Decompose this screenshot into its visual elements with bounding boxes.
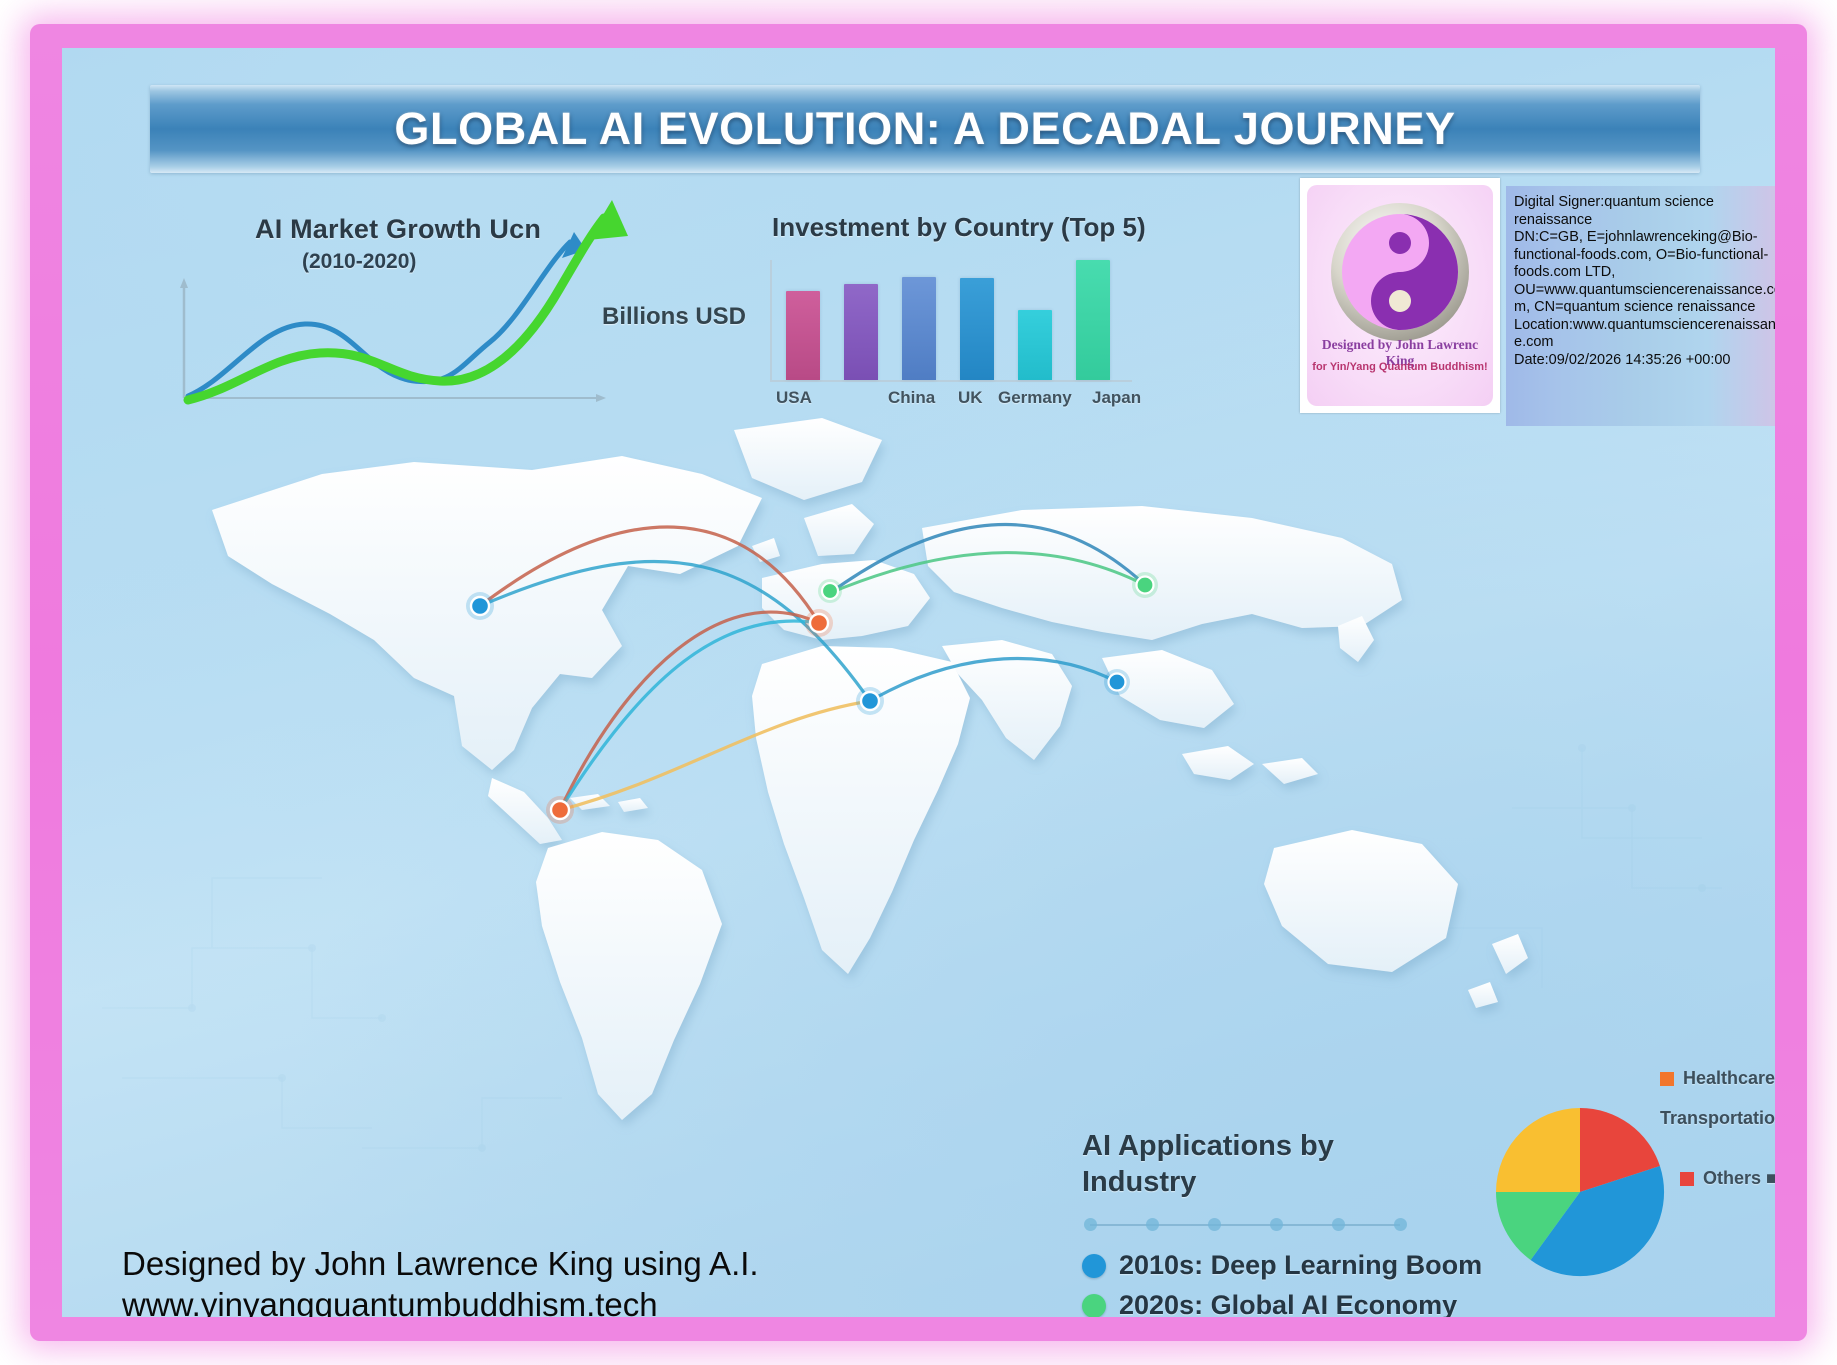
pie-label-others: Others ■ (30%) bbox=[1703, 1168, 1775, 1189]
bar-china bbox=[844, 284, 878, 380]
timeline-dot-4 bbox=[1270, 1218, 1283, 1231]
timeline-dot-6 bbox=[1394, 1218, 1407, 1231]
node-north-america bbox=[466, 592, 494, 620]
world-map bbox=[62, 378, 1775, 1138]
timeline-dot-2 bbox=[1146, 1218, 1159, 1231]
node-east-asia-blue bbox=[1104, 669, 1130, 695]
map-landmasses bbox=[212, 418, 1528, 1120]
pie-label-healthcare: Healthcare bbox=[1683, 1068, 1775, 1089]
legend-swatch-2020s bbox=[1082, 1294, 1106, 1318]
title-banner: GLOBAL AI EVOLUTION: A DECADAL JOURNEY bbox=[150, 85, 1700, 173]
industry-title: AI Applications by Industry bbox=[1082, 1128, 1334, 1200]
node-europe-hub bbox=[805, 609, 833, 637]
bar-usa bbox=[786, 291, 820, 380]
bar-extra bbox=[1076, 260, 1110, 380]
pie-chart-svg bbox=[1492, 1100, 1672, 1290]
bar-germany bbox=[960, 278, 994, 380]
page-title: GLOBAL AI EVOLUTION: A DECADAL JOURNEY bbox=[150, 85, 1700, 173]
legend-swatch-2010s bbox=[1082, 1254, 1106, 1278]
signature-date: Date:09/02/2026 14:35:26 +00:00 bbox=[1514, 352, 1775, 370]
signature-location: Location:www.quantumsciencerenaissance.c… bbox=[1514, 317, 1775, 352]
pie-legend-transportation: Transportation (15% bbox=[1660, 1108, 1775, 1129]
industry-title-line2: Industry bbox=[1082, 1164, 1334, 1200]
timeline-track bbox=[1090, 1224, 1400, 1226]
bar-japan bbox=[1018, 310, 1052, 380]
pie-legend-others: Others ■ (30%) bbox=[1680, 1168, 1775, 1189]
pie-swatch-others bbox=[1680, 1172, 1694, 1186]
signature-dn: DN:C=GB, E=johnlawrenceking@Bio-function… bbox=[1514, 229, 1775, 282]
industry-title-line1: AI Applications by bbox=[1082, 1128, 1334, 1164]
pie-legend-healthcare: Healthcare bbox=[1660, 1068, 1775, 1089]
logo-tagline: for Yin/Yang Quantum Buddhism! bbox=[1307, 361, 1493, 373]
decade-timeline bbox=[1084, 1218, 1404, 1232]
industry-pie-chart: Healthcare Transportation (15% Others ■ … bbox=[1492, 1068, 1772, 1308]
credits-block: Designed by John Lawrence King using A.I… bbox=[122, 1243, 942, 1317]
bar-chart-title: Investment by Country (Top 5) bbox=[772, 212, 1146, 243]
credit-website-1[interactable]: www.yinyangquantumbuddhism.tech bbox=[122, 1284, 942, 1317]
legend-label-2020s: 2020s: Global AI Economy bbox=[1119, 1290, 1457, 1317]
yin-yang-icon bbox=[1327, 199, 1473, 350]
signature-ou-cn: OU=www.quantumsciencerenaissance.com, CN… bbox=[1514, 282, 1775, 317]
signature-digital-signer: Digital Signer:quantum science renaissan… bbox=[1514, 194, 1775, 229]
legend-item-2010s: 2010s: Deep Learning Boom bbox=[1082, 1250, 1482, 1281]
node-africa bbox=[856, 687, 884, 715]
legend-item-2020s: 2020s: Global AI Economy bbox=[1082, 1290, 1457, 1317]
growth-chart-title: AI Market Growth Ucn bbox=[255, 214, 541, 245]
timeline-dot-3 bbox=[1208, 1218, 1221, 1231]
signature-logo-inner: Designed by John Lawrenc King for Yin/Ya… bbox=[1307, 185, 1493, 406]
world-map-svg bbox=[62, 378, 1775, 1138]
poster-root: GLOBAL AI EVOLUTION: A DECADAL JOURNEY A… bbox=[0, 0, 1837, 1365]
pie-swatch-healthcare bbox=[1660, 1072, 1674, 1086]
legend-label-2010s: 2010s: Deep Learning Boom bbox=[1119, 1250, 1482, 1281]
node-europe-green bbox=[818, 579, 842, 603]
pie-label-transportation: Transportation (15% bbox=[1660, 1108, 1775, 1129]
credit-designer: Designed by John Lawrence King using A.I… bbox=[122, 1243, 942, 1284]
poster-canvas: GLOBAL AI EVOLUTION: A DECADAL JOURNEY A… bbox=[62, 48, 1775, 1317]
timeline-dot-1 bbox=[1084, 1218, 1097, 1231]
bar-uk bbox=[902, 277, 936, 380]
bar-chart-plot bbox=[770, 260, 1132, 382]
growth-chart-subtitle: (2010-2020) bbox=[302, 250, 416, 274]
node-south-america bbox=[546, 796, 574, 824]
timeline-dot-5 bbox=[1332, 1218, 1345, 1231]
ai-applications-by-industry: AI Applications by Industry 2010s: Deep … bbox=[1082, 1128, 1502, 1317]
node-east-asia-green bbox=[1132, 572, 1158, 598]
